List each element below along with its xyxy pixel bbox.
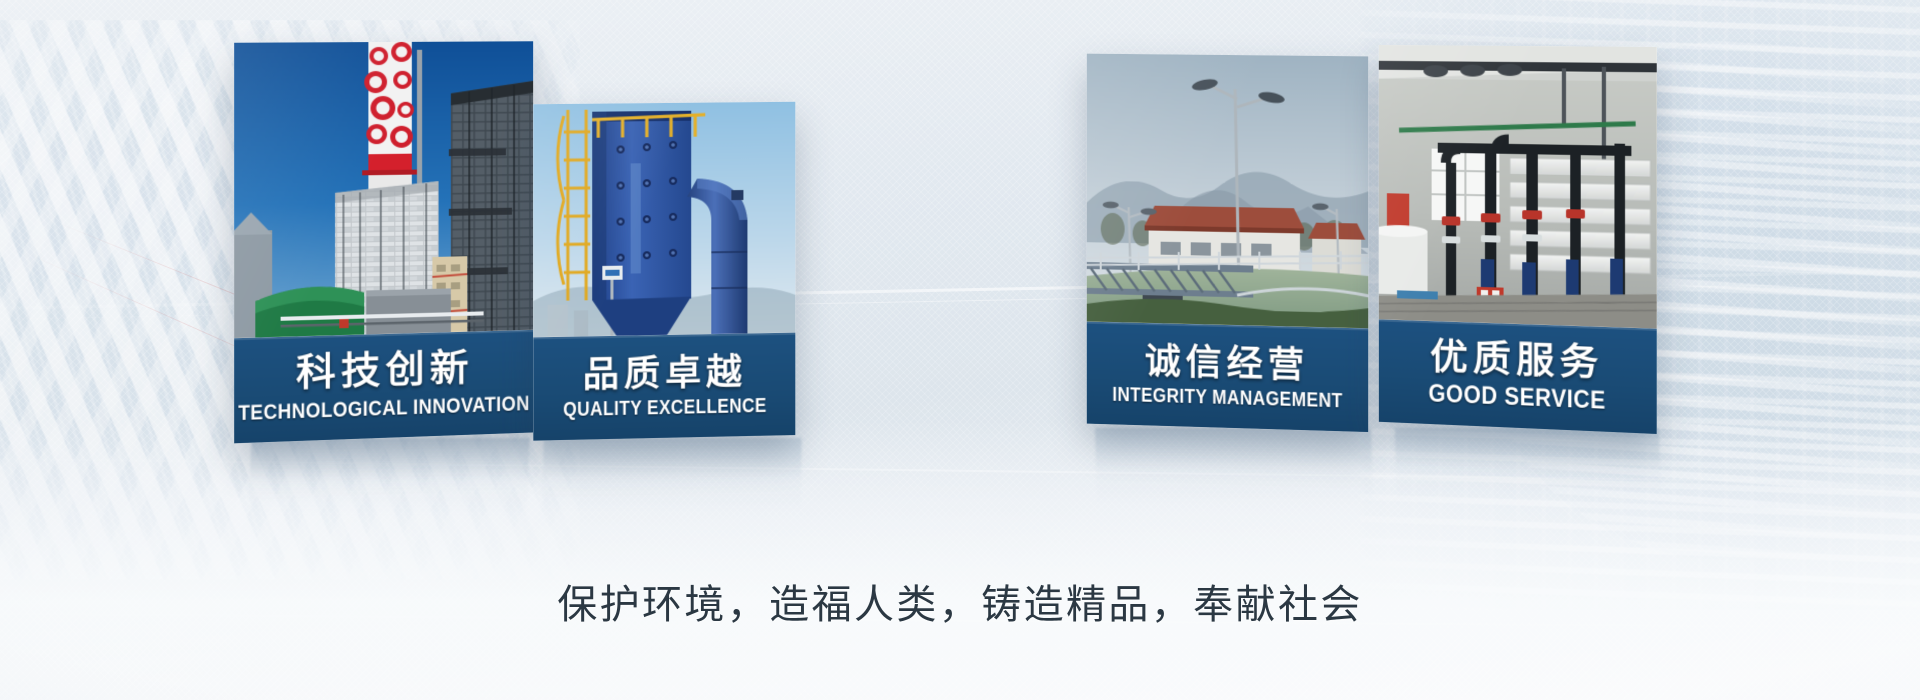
wastewater-plant-illustration xyxy=(1087,54,1369,329)
card-label-technological-innovation: 科技创新 TECHNOLOGICAL INNOVATION xyxy=(234,330,533,444)
card-reflection-1 xyxy=(249,438,530,516)
card-title-en-4: GOOD SERVICE xyxy=(1428,380,1605,415)
banner-tagline: 保护环境，造福人类，铸造精品，奉献社会 xyxy=(0,572,1920,630)
card-reflection-4 xyxy=(1395,428,1662,500)
card-quality-excellence[interactable]: 品质卓越 QUALITY EXCELLENCE xyxy=(533,102,795,441)
card-integrity-management[interactable]: 诚信经营 INTEGRITY MANAGEMENT xyxy=(1087,54,1369,433)
card-label-integrity-management: 诚信经营 INTEGRITY MANAGEMENT xyxy=(1087,322,1369,433)
card-label-quality-excellence: 品质卓越 QUALITY EXCELLENCE xyxy=(533,333,795,441)
card-title-cn-2: 品质卓越 xyxy=(583,353,747,394)
card-title-cn-1: 科技创新 xyxy=(296,349,474,394)
card-photo-technological-innovation xyxy=(234,41,533,338)
card-title-cn-3: 诚信经营 xyxy=(1145,342,1309,384)
card-photo-good-service xyxy=(1379,45,1657,329)
card-reflection-3 xyxy=(1095,428,1373,504)
card-title-en-2: QUALITY EXCELLENCE xyxy=(563,395,766,421)
card-title-en-3: INTEGRITY MANAGEMENT xyxy=(1112,384,1342,413)
card-good-service[interactable]: 优质服务 GOOD SERVICE xyxy=(1379,45,1657,434)
dust-collector-illustration xyxy=(533,102,795,338)
chimney-stack-illustration xyxy=(234,41,533,338)
card-technological-innovation[interactable]: 科技创新 TECHNOLOGICAL INNOVATION xyxy=(234,41,533,443)
card-label-good-service: 优质服务 GOOD SERVICE xyxy=(1379,319,1657,434)
card-title-en-1: TECHNOLOGICAL INNOVATION xyxy=(238,392,529,425)
card-photo-integrity-management xyxy=(1087,54,1369,329)
card-title-cn-4: 优质服务 xyxy=(1430,338,1604,383)
card-reflection-2 xyxy=(542,438,801,512)
water-treatment-pipework-illustration xyxy=(1379,45,1657,329)
card-photo-quality-excellence xyxy=(533,102,795,338)
banner-stage: 科技创新 TECHNOLOGICAL INNOVATION xyxy=(0,0,1920,700)
